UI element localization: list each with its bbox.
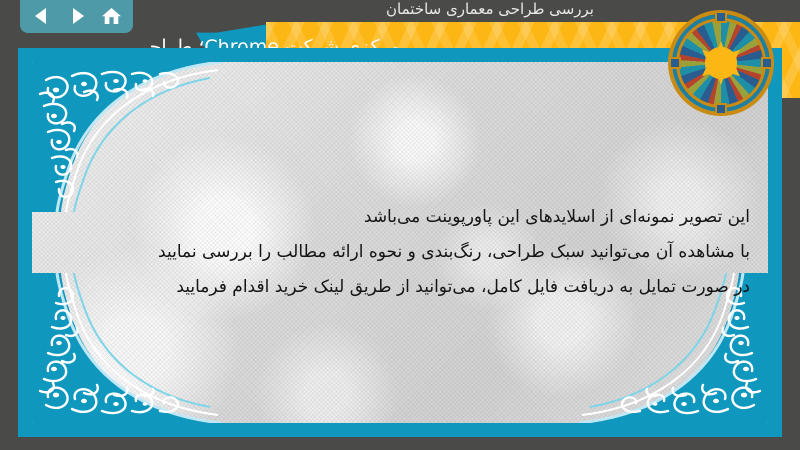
body-line-1: این تصویر نمونه‌ای از اسلایدهای این پاور… <box>78 200 750 235</box>
content-panel-inner: این تصویر نمونه‌ای از اسلایدهای این پاور… <box>32 62 768 423</box>
medallion-node-left <box>669 57 681 69</box>
body-line-3: در صورت تمایل به دریافت فایل کامل، می‌تو… <box>78 270 750 305</box>
slide-stage: بررسی طراحی معماری ساختمان مرکزی شرکت Ch… <box>0 0 800 450</box>
content-panel: این تصویر نمونه‌ای از اسلایدهای این پاور… <box>18 48 782 437</box>
body-line-2: با مشاهده آن می‌توانید سبک طراحی، رنگ‌بن… <box>78 235 750 270</box>
medallion-node-top <box>715 11 727 23</box>
body-text-block: این تصویر نمونه‌ای از اسلایدهای این پاور… <box>78 200 750 305</box>
medallion-node-right <box>761 57 773 69</box>
page-title: بررسی طراحی معماری ساختمان <box>200 0 780 20</box>
medallion-node-bottom <box>715 103 727 115</box>
medallion-star-center <box>699 41 743 85</box>
decorative-medallion-icon <box>672 14 770 112</box>
